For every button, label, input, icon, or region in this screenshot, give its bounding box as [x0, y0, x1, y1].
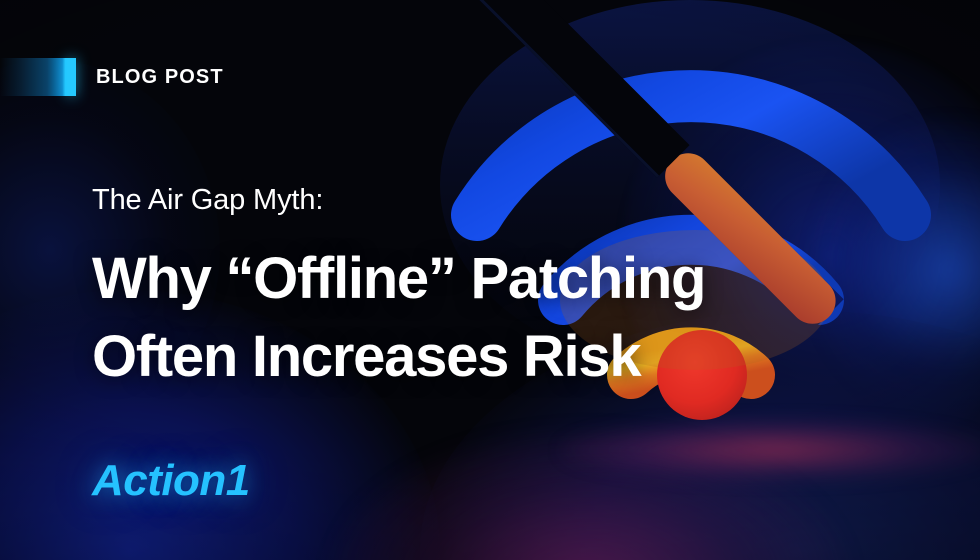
headline-line-2: Often Increases Risk [92, 318, 852, 395]
blog-post-hero-card: BLOG POST The Air Gap Myth: Why “Offline… [0, 0, 980, 560]
headline-line-1: Why “Offline” Patching [92, 240, 852, 317]
accent-bar-icon [0, 58, 76, 96]
logo-wordmark: Action1 [92, 459, 250, 503]
page-title: Why “Offline” Patching Often Increases R… [92, 240, 852, 394]
hero-content: BLOG POST The Air Gap Myth: Why “Offline… [0, 0, 980, 560]
eyebrow-label: BLOG POST [96, 67, 224, 87]
headline-block: The Air Gap Myth: Why “Offline” Patching… [92, 183, 852, 395]
headline-kicker: The Air Gap Myth: [92, 183, 852, 218]
eyebrow: BLOG POST [0, 58, 224, 96]
action1-logo: Action1 [92, 458, 250, 504]
